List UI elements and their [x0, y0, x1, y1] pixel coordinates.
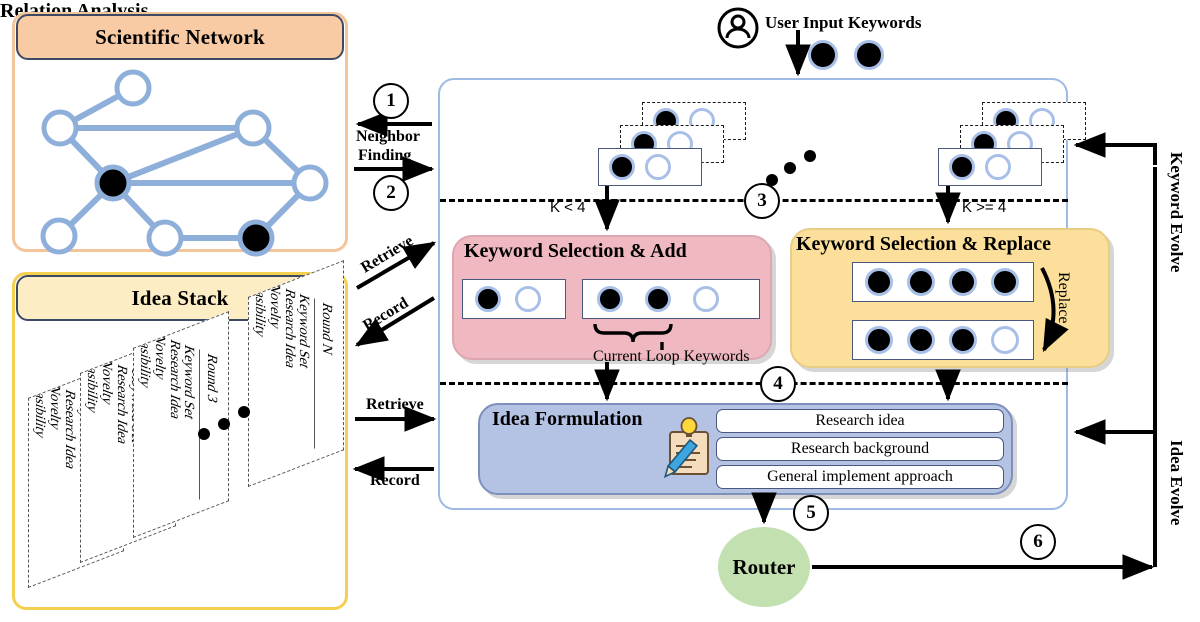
step-5-label: 5: [806, 502, 816, 524]
feedback-loops: [0, 0, 1200, 622]
relation-keyword-card[interactable]: [598, 148, 702, 186]
step-2-label: 2: [386, 182, 396, 204]
step-3-badge: 3: [744, 183, 780, 219]
step-4-label: 4: [773, 373, 783, 395]
step-2-badge: 2: [373, 175, 409, 211]
step-1-label: 1: [386, 90, 396, 112]
step-6-label: 6: [1033, 531, 1043, 553]
relation-keyword-card[interactable]: [938, 148, 1042, 186]
step-6-badge: 6: [1020, 524, 1056, 560]
keyword-dot-empty[interactable]: [985, 154, 1011, 180]
keyword-evolve-label: Keyword Evolve: [1166, 152, 1186, 272]
keyword-dot-filled[interactable]: [609, 154, 635, 180]
step-4-badge: 4: [760, 366, 796, 402]
step-5-badge: 5: [793, 495, 829, 531]
step-1-badge: 1: [373, 83, 409, 119]
diagram-canvas: Scientific Network Idea Stack Round 1Key…: [0, 0, 1200, 622]
keyword-dot-empty[interactable]: [645, 154, 671, 180]
step-3-label: 3: [757, 190, 767, 212]
keyword-dot-filled[interactable]: [949, 154, 975, 180]
idea-evolve-label: Idea Evolve: [1166, 440, 1186, 525]
